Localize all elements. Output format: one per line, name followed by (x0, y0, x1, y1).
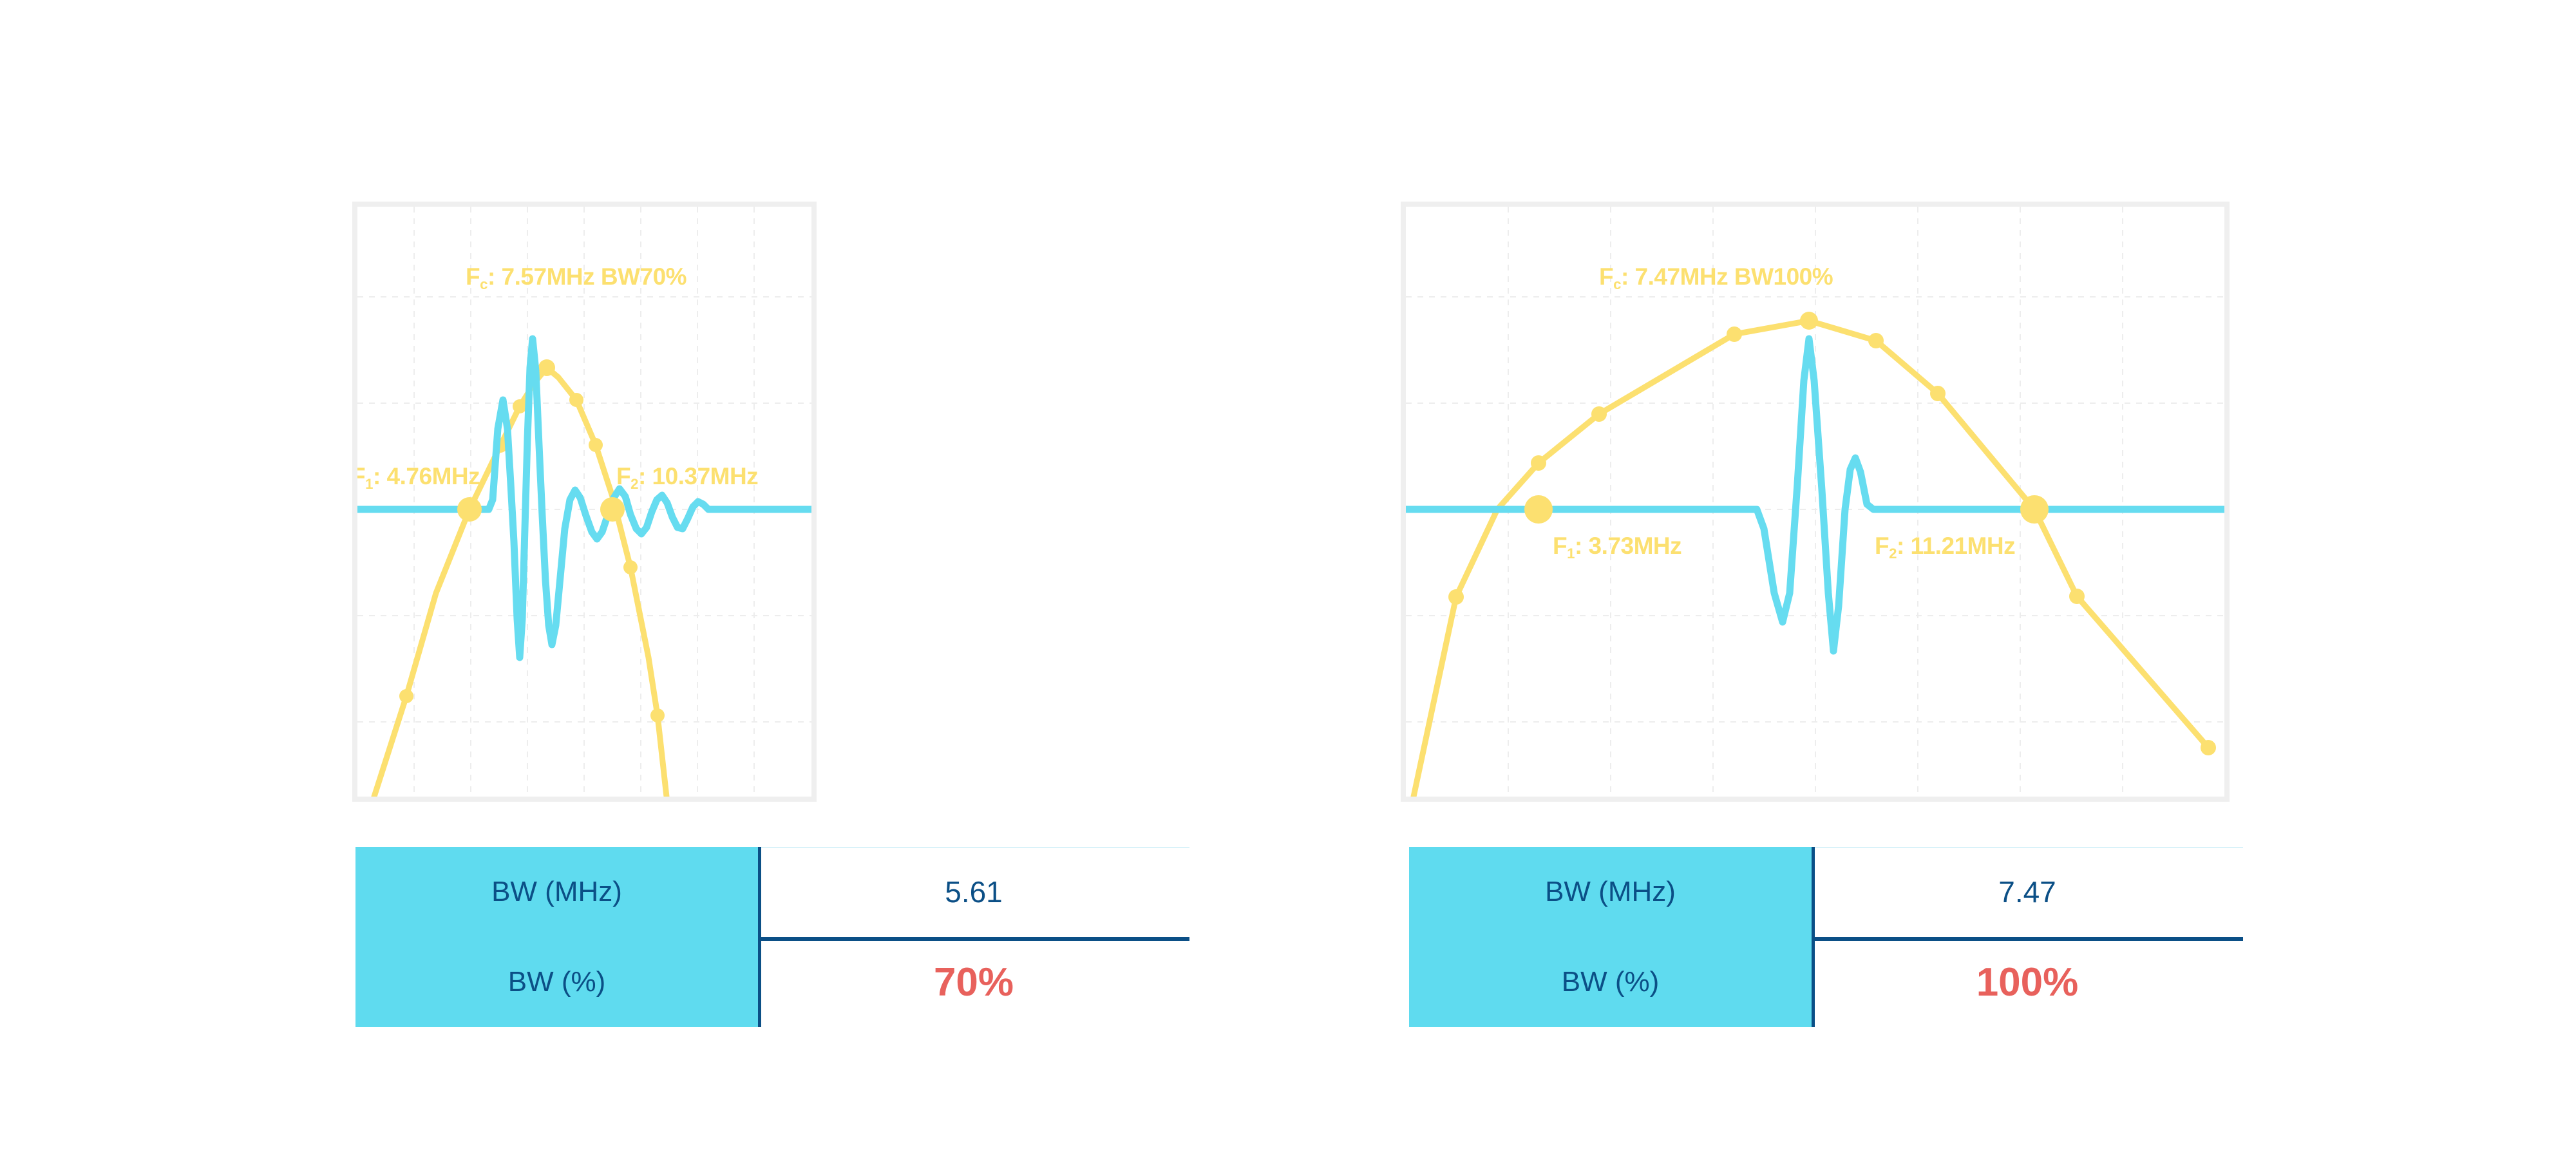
spectrum-chart-right (1406, 207, 2224, 797)
table-row: BW (MHz) 5.61 (355, 847, 1189, 937)
spectrum-chart-left (357, 207, 811, 797)
table-row: BW (MHz) 7.47 (1409, 847, 2243, 937)
fc-prefix: F (466, 263, 480, 290)
f1-label-right: F1: 3.73MHz (1553, 534, 1681, 558)
f1-prefix: F (1553, 533, 1567, 559)
f1-prefix: F (357, 463, 365, 489)
plot-inner-right: Fc: 7.47MHz BW100% F1: 3.73MHz F2: 11.21… (1406, 207, 2224, 797)
table-key-bw-percent: BW (%) (1409, 937, 1815, 1027)
bw-table-left: BW (MHz) 5.61 BW (%) 70% (355, 847, 1189, 1027)
f1-label-left: F1: 4.76MHz (357, 464, 480, 488)
fc-prefix: F (1599, 263, 1613, 290)
f2-prefix: F (1875, 533, 1889, 559)
f2-subscript: 2 (630, 476, 638, 492)
table-value-bw-mhz: 5.61 (761, 847, 1186, 937)
table-key-bw-mhz: BW (MHz) (1409, 847, 1815, 937)
table-row: BW (%) 100% (1409, 937, 2243, 1027)
table-value-bw-percent: 70% (761, 937, 1186, 1027)
f2-text: : 11.21MHz (1897, 533, 2015, 559)
f1-subscript: 1 (365, 476, 373, 492)
plot-inner-left: Fc: 7.57MHz BW70% F1: 4.76MHz F2: 10.37M… (357, 207, 811, 797)
fc-subscript: c (1613, 276, 1621, 292)
f1-marker (457, 497, 482, 522)
plot-frame-left: Fc: 7.57MHz BW70% F1: 4.76MHz F2: 10.37M… (352, 202, 817, 802)
f2-label-right: F2: 11.21MHz (1875, 534, 2015, 558)
table-key-bw-percent: BW (%) (355, 937, 761, 1027)
f1-marker (1524, 495, 1553, 524)
table-value-bw-mhz: 7.47 (1815, 847, 2240, 937)
f1-subscript: 1 (1567, 545, 1575, 562)
f1-text: : 4.76MHz (373, 463, 480, 489)
f2-marker (2020, 495, 2049, 524)
table-value-bw-percent: 100% (1815, 937, 2240, 1027)
f2-marker (600, 497, 625, 522)
fc-label-left: Fc: 7.57MHz BW70% (466, 265, 687, 288)
f1-text: : 3.73MHz (1575, 533, 1681, 559)
plot-frame-right: Fc: 7.47MHz BW100% F1: 3.73MHz F2: 11.21… (1401, 202, 2230, 802)
f2-prefix: F (616, 463, 630, 489)
fc-text: : 7.47MHz BW100% (1621, 263, 1833, 290)
bw-table-right: BW (MHz) 7.47 BW (%) 100% (1409, 847, 2243, 1027)
f2-label-left: F2: 10.37MHz (616, 464, 758, 488)
fc-label-right: Fc: 7.47MHz BW100% (1599, 265, 1833, 288)
fc-subscript: c (480, 276, 488, 292)
f2-text: : 10.37MHz (638, 463, 758, 489)
panel-right: Fc: 7.47MHz BW100% F1: 3.73MHz F2: 11.21… (1288, 0, 2576, 1154)
panel-left: Fc: 7.57MHz BW70% F1: 4.76MHz F2: 10.37M… (0, 0, 1288, 1154)
table-key-bw-mhz: BW (MHz) (355, 847, 761, 937)
table-row: BW (%) 70% (355, 937, 1189, 1027)
spectrum-curve (1414, 321, 2208, 797)
f2-subscript: 2 (1889, 545, 1897, 562)
fc-text: : 7.57MHz BW70% (488, 263, 687, 290)
